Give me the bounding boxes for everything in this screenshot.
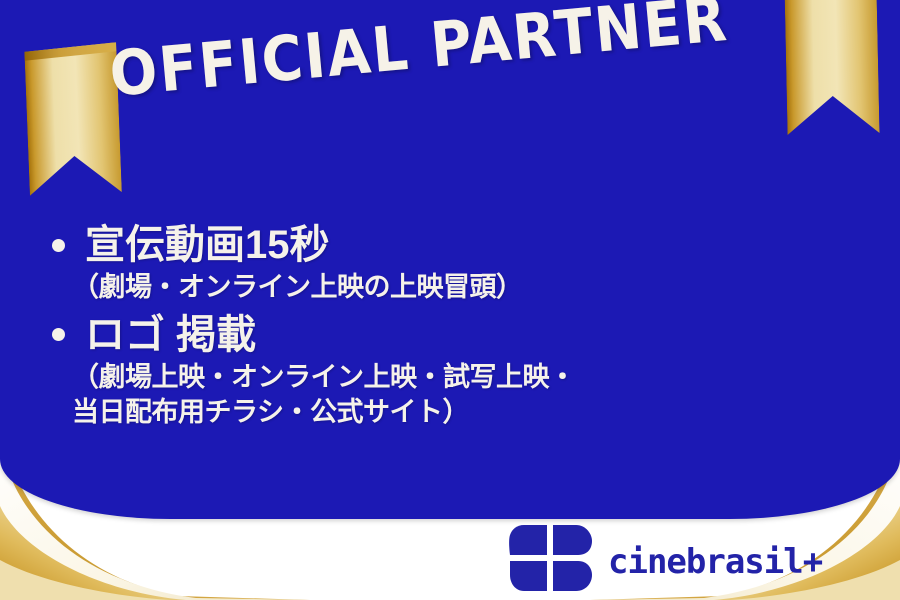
bullet-dot-icon: [52, 239, 65, 252]
gold-ribbon-right: [784, 0, 879, 135]
benefit-title-row: 宣伝動画15秒: [52, 222, 842, 268]
official-partner-banner: OFFICIAL PARTNER 宣伝動画15秒 （劇場・オンライン上映の上映冒…: [0, 0, 900, 600]
list-item: ロゴ 掲載 （劇場上映・オンライン上映・試写上映・ 当日配布用チラシ・公式サイト…: [52, 312, 842, 431]
benefit-detail-line-2: 当日配布用チラシ・公式サイト）: [72, 395, 842, 431]
logo-wordmark: cinebrasil+: [608, 545, 822, 579]
cinebrasil-quadrant-mark-icon: [508, 525, 594, 596]
benefit-title: 宣伝動画15秒: [85, 222, 330, 268]
cinebrasil-logo: cinebrasil+: [508, 525, 822, 596]
benefit-detail: （劇場・オンライン上映の上映冒頭）: [72, 270, 842, 306]
gold-ribbon-left: [24, 42, 122, 195]
bullet-dot-icon: [52, 328, 65, 341]
benefit-detail-line-1: （劇場上映・オンライン上映・試写上映・: [72, 360, 842, 396]
list-item: 宣伝動画15秒 （劇場・オンライン上映の上映冒頭）: [52, 222, 842, 306]
benefit-detail: （劇場上映・オンライン上映・試写上映・ 当日配布用チラシ・公式サイト）: [72, 360, 842, 431]
benefits-list: 宣伝動画15秒 （劇場・オンライン上映の上映冒頭） ロゴ 掲載 （劇場上映・オン…: [52, 222, 842, 437]
benefit-title: ロゴ 掲載: [85, 312, 256, 358]
benefit-title-row: ロゴ 掲載: [52, 312, 842, 358]
